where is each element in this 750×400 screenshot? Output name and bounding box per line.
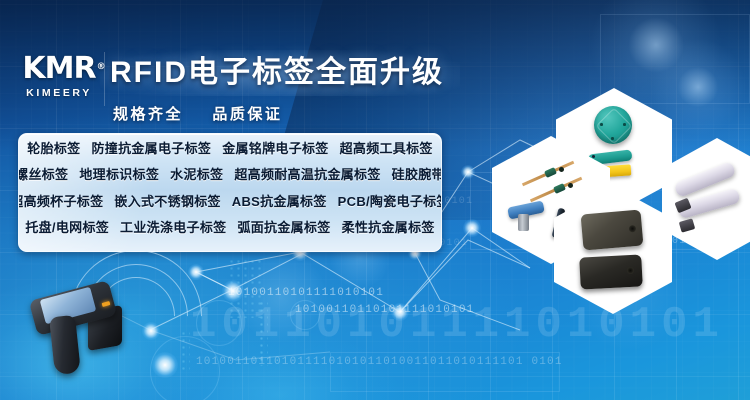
product-tag[interactable]: 水泥标签 — [170, 164, 223, 183]
page-title: RFID电子标签全面升级 — [110, 52, 450, 94]
network-node — [188, 264, 204, 280]
dot-matrix — [180, 330, 190, 370]
product-row: 超高频杯子标签 嵌入式不锈钢标签 ABS抗金属标签 PCB/陶瓷电子标签 — [19, 187, 441, 214]
screw-stem — [518, 214, 529, 231]
subtitle-left: 规格齐全 — [113, 106, 183, 123]
dark-anti-metal-tag — [581, 209, 644, 250]
dark-anti-metal-tag — [579, 254, 643, 289]
product-tag[interactable]: 弧面抗金属标签 — [237, 217, 330, 236]
subtitle: 规格齐全 品质保证 — [113, 103, 282, 124]
product-tag[interactable]: 嵌入式不锈钢标签 — [114, 191, 220, 210]
decorative-frame — [330, 352, 560, 392]
decorative-frame — [600, 14, 750, 104]
binary-text-large: 10110101111010101 — [190, 300, 724, 350]
binary-text: 10100110110101111010101 — [295, 304, 474, 316]
product-row: 托盘/电网标签 工业洗涤电子标签 弧面抗金属标签 柔性抗金属标签 — [19, 214, 441, 241]
dot-matrix — [258, 300, 268, 366]
product-tag[interactable]: 超高频工具标签 — [340, 138, 433, 157]
logo-mark-text: KMR — [22, 51, 95, 86]
product-tag[interactable]: 柔性抗金属标签 — [342, 217, 435, 236]
product-tag[interactable]: ABS抗金属标签 — [232, 191, 327, 210]
rfid-promo-banner: 10100110101111010101 1010011011010111101… — [0, 0, 750, 400]
hex-white-flexible-tags[interactable] — [662, 138, 750, 260]
logo-company-name: KIMEERY — [13, 87, 105, 99]
product-tag[interactable]: 轮胎标签 — [27, 138, 80, 157]
product-list-panel: 轮胎标签 防撞抗金属电子标签 金属铭牌电子标签 超高频工具标签 螺丝标签 地理标… — [18, 133, 442, 252]
product-tag[interactable]: 托盘/电网标签 — [25, 217, 109, 236]
product-tag[interactable]: 超高频杯子标签 — [18, 191, 103, 210]
logo-mark: KMR ® — [22, 53, 95, 85]
product-row: 螺丝标签 地理标识标签 水泥标签 超高频耐高温抗金属标签 硅胶腕带 — [19, 161, 441, 188]
product-tag[interactable]: 地理标识标签 — [79, 164, 159, 183]
decorative-ring — [196, 300, 242, 346]
network-node — [461, 165, 475, 179]
network-node — [391, 303, 409, 321]
network-node — [152, 352, 178, 378]
logo-divider — [104, 52, 105, 106]
product-tag[interactable]: 螺丝标签 — [18, 164, 68, 183]
dot-matrix — [228, 258, 262, 318]
product-tag[interactable]: 超高频耐高温抗金属标签 — [234, 164, 380, 183]
product-tag[interactable]: 硅胶腕带 — [392, 164, 442, 183]
decorative-ring — [290, 300, 320, 330]
product-tag[interactable]: 金属铭牌电子标签 — [222, 138, 328, 157]
bokeh-circle — [236, 252, 326, 342]
binary-text: 10100110101111010101 — [228, 287, 384, 299]
subtitle-right: 品质保证 — [212, 106, 282, 123]
product-tag[interactable]: PCB/陶瓷电子标签 — [338, 191, 442, 210]
decorative-ring — [150, 336, 220, 400]
network-node — [142, 322, 160, 340]
network-node — [463, 219, 481, 237]
kimeery-logo[interactable]: KMR ® KIMEERY — [13, 53, 105, 99]
cyan-glow-bottom — [160, 330, 400, 400]
network-node — [222, 280, 244, 302]
handheld-rfid-reader[interactable] — [26, 272, 144, 390]
product-tag[interactable]: 防撞抗金属电子标签 — [91, 138, 211, 157]
binary-text: 1010011011010111101010110100110110101111… — [196, 356, 563, 368]
teal-disc-tag — [594, 106, 632, 144]
product-tag[interactable]: 工业洗涤电子标签 — [120, 217, 226, 236]
product-row: 轮胎标签 防撞抗金属电子标签 金属铭牌电子标签 超高频工具标签 — [19, 134, 441, 161]
